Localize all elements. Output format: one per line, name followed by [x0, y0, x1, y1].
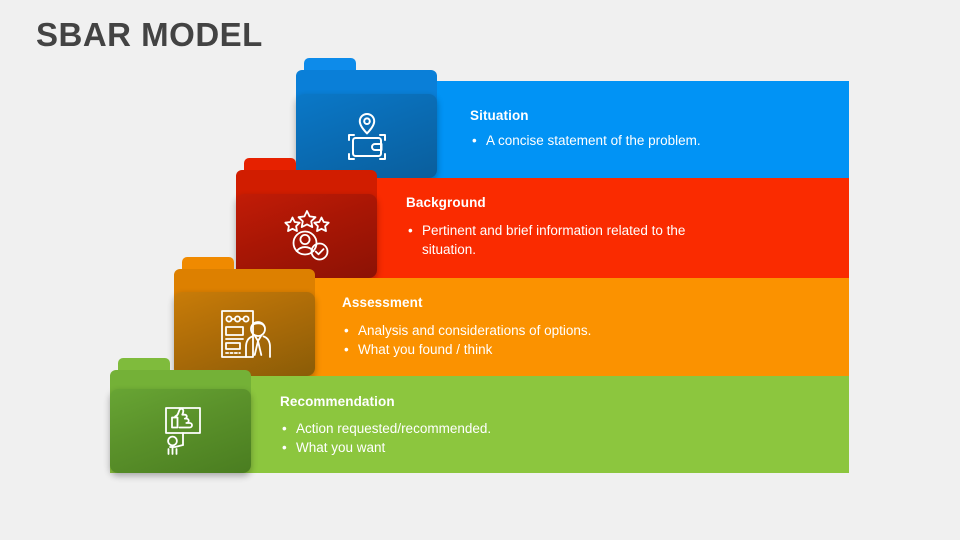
list-item: • Analysis and considerations of options…: [342, 321, 742, 340]
list-item: • Pertinent and brief information relate…: [406, 221, 766, 240]
page-title: SBAR MODEL: [36, 16, 263, 54]
heading-assessment: Assessment: [342, 295, 423, 310]
bullet-dot: •: [282, 438, 287, 457]
list-item-label: situation.: [422, 242, 476, 257]
row-assessment: Assessment • Analysis and considerations…: [174, 278, 849, 376]
list-item: • Action requested/recommended.: [280, 419, 680, 438]
heading-situation: Situation: [470, 108, 529, 123]
row-situation: Situation • A concise statement of the p…: [296, 81, 849, 178]
bullets-recommendation: • Action requested/recommended. • What y…: [280, 419, 680, 457]
report-analyst-icon: [216, 307, 274, 361]
row-recommendation: Recommendation • Action requested/recomm…: [110, 376, 849, 473]
bullets-background: • Pertinent and brief information relate…: [406, 221, 766, 259]
bullet-dot: •: [344, 340, 349, 359]
list-item-label: Action requested/recommended.: [296, 421, 491, 436]
list-item: • What you want: [280, 438, 680, 457]
bullet-dot: •: [344, 321, 349, 340]
folder-front-panel: [110, 389, 251, 473]
folder-recommendation: [110, 358, 251, 473]
list-item: • What you found / think: [342, 340, 742, 359]
location-pin-wallet-scan-icon: [339, 108, 395, 164]
list-item-label: Pertinent and brief information related …: [422, 223, 685, 238]
row-background: Background • Pertinent and brief informa…: [236, 178, 849, 278]
list-item-label: What you want: [296, 440, 385, 455]
list-item: • A concise statement of the problem.: [470, 132, 820, 150]
heading-recommendation: Recommendation: [280, 394, 395, 409]
bullet-dot: •: [408, 221, 413, 240]
list-item-label: Analysis and considerations of options.: [358, 323, 591, 338]
list-item-label: A concise statement of the problem.: [486, 133, 701, 148]
person-thumbs-up-sign-icon: [152, 404, 210, 458]
list-item: situation.: [406, 240, 766, 259]
bullet-dot: •: [282, 419, 287, 438]
bullet-dot: •: [472, 132, 477, 150]
bullets-situation: • A concise statement of the problem.: [470, 132, 820, 150]
heading-background: Background: [406, 195, 486, 210]
bullets-assessment: • Analysis and considerations of options…: [342, 321, 742, 359]
slide-canvas: SBAR MODEL Situation • A concise stateme…: [0, 0, 960, 540]
list-item-label: What you found / think: [358, 342, 492, 357]
three-stars-person-check-icon: [278, 209, 336, 263]
